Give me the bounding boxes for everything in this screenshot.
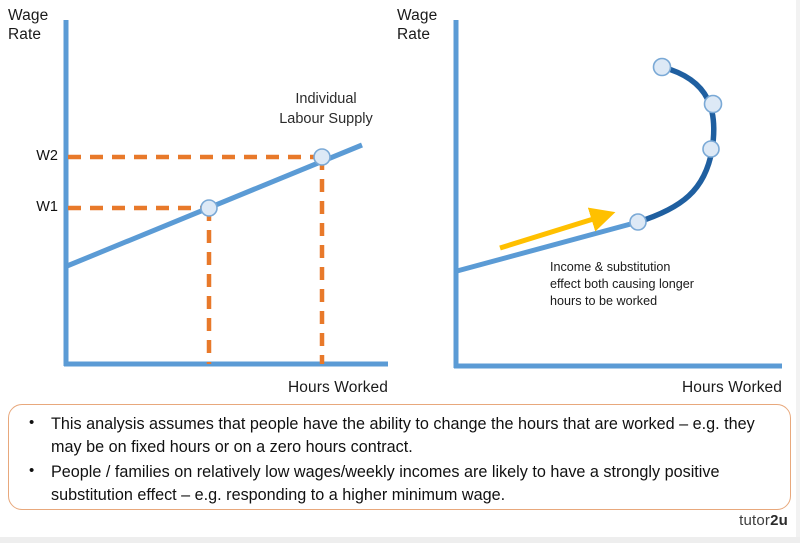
right-chart-x-axis-label: Hours Worked [632, 378, 782, 397]
individual-labour-supply-chart: Wage Rate W2 W1 Individual Labour Supply… [0, 0, 400, 400]
left-chart-x-axis-label: Hours Worked [238, 378, 388, 397]
assumptions-callout-box: This analysis assumes that people have t… [8, 404, 791, 510]
curve-point-b-marker [703, 141, 719, 157]
logo-suffix: 2u [770, 512, 788, 529]
left-chart-tick-label-w2: W2 [0, 148, 58, 164]
right-chart-svg [400, 0, 800, 400]
right-chart-y-axis-label: Wage Rate [397, 6, 437, 45]
backward-bending-curve-segment [638, 67, 714, 222]
list-item: People / families on relatively low wage… [17, 461, 780, 507]
income-substitution-annotation: Income & substitution effect both causin… [550, 259, 750, 310]
right-gutter [796, 0, 800, 543]
list-item: This analysis assumes that people have t… [17, 413, 780, 459]
left-chart-y-axis-label: Wage Rate [8, 6, 48, 45]
backward-bending-labour-supply-chart: Wage Rate Income & substitution effect b… [400, 0, 800, 400]
bottom-gutter [0, 537, 800, 543]
left-chart-svg [0, 0, 400, 400]
curve-point-d-marker [654, 59, 671, 76]
w1-equilibrium-marker [201, 200, 217, 216]
slide-canvas: Wage Rate W2 W1 Individual Labour Supply… [0, 0, 800, 543]
tutor2u-logo: tutor2u [739, 512, 788, 529]
individual-labour-supply-curve-label: Individual Labour Supply [256, 90, 396, 129]
left-chart-tick-label-w1: W1 [0, 199, 58, 215]
curve-point-a-marker [630, 214, 646, 230]
assumptions-bullet-list: This analysis assumes that people have t… [17, 413, 780, 507]
logo-prefix: tutor [739, 512, 770, 529]
curve-point-c-marker [705, 96, 722, 113]
w2-equilibrium-marker [314, 149, 330, 165]
